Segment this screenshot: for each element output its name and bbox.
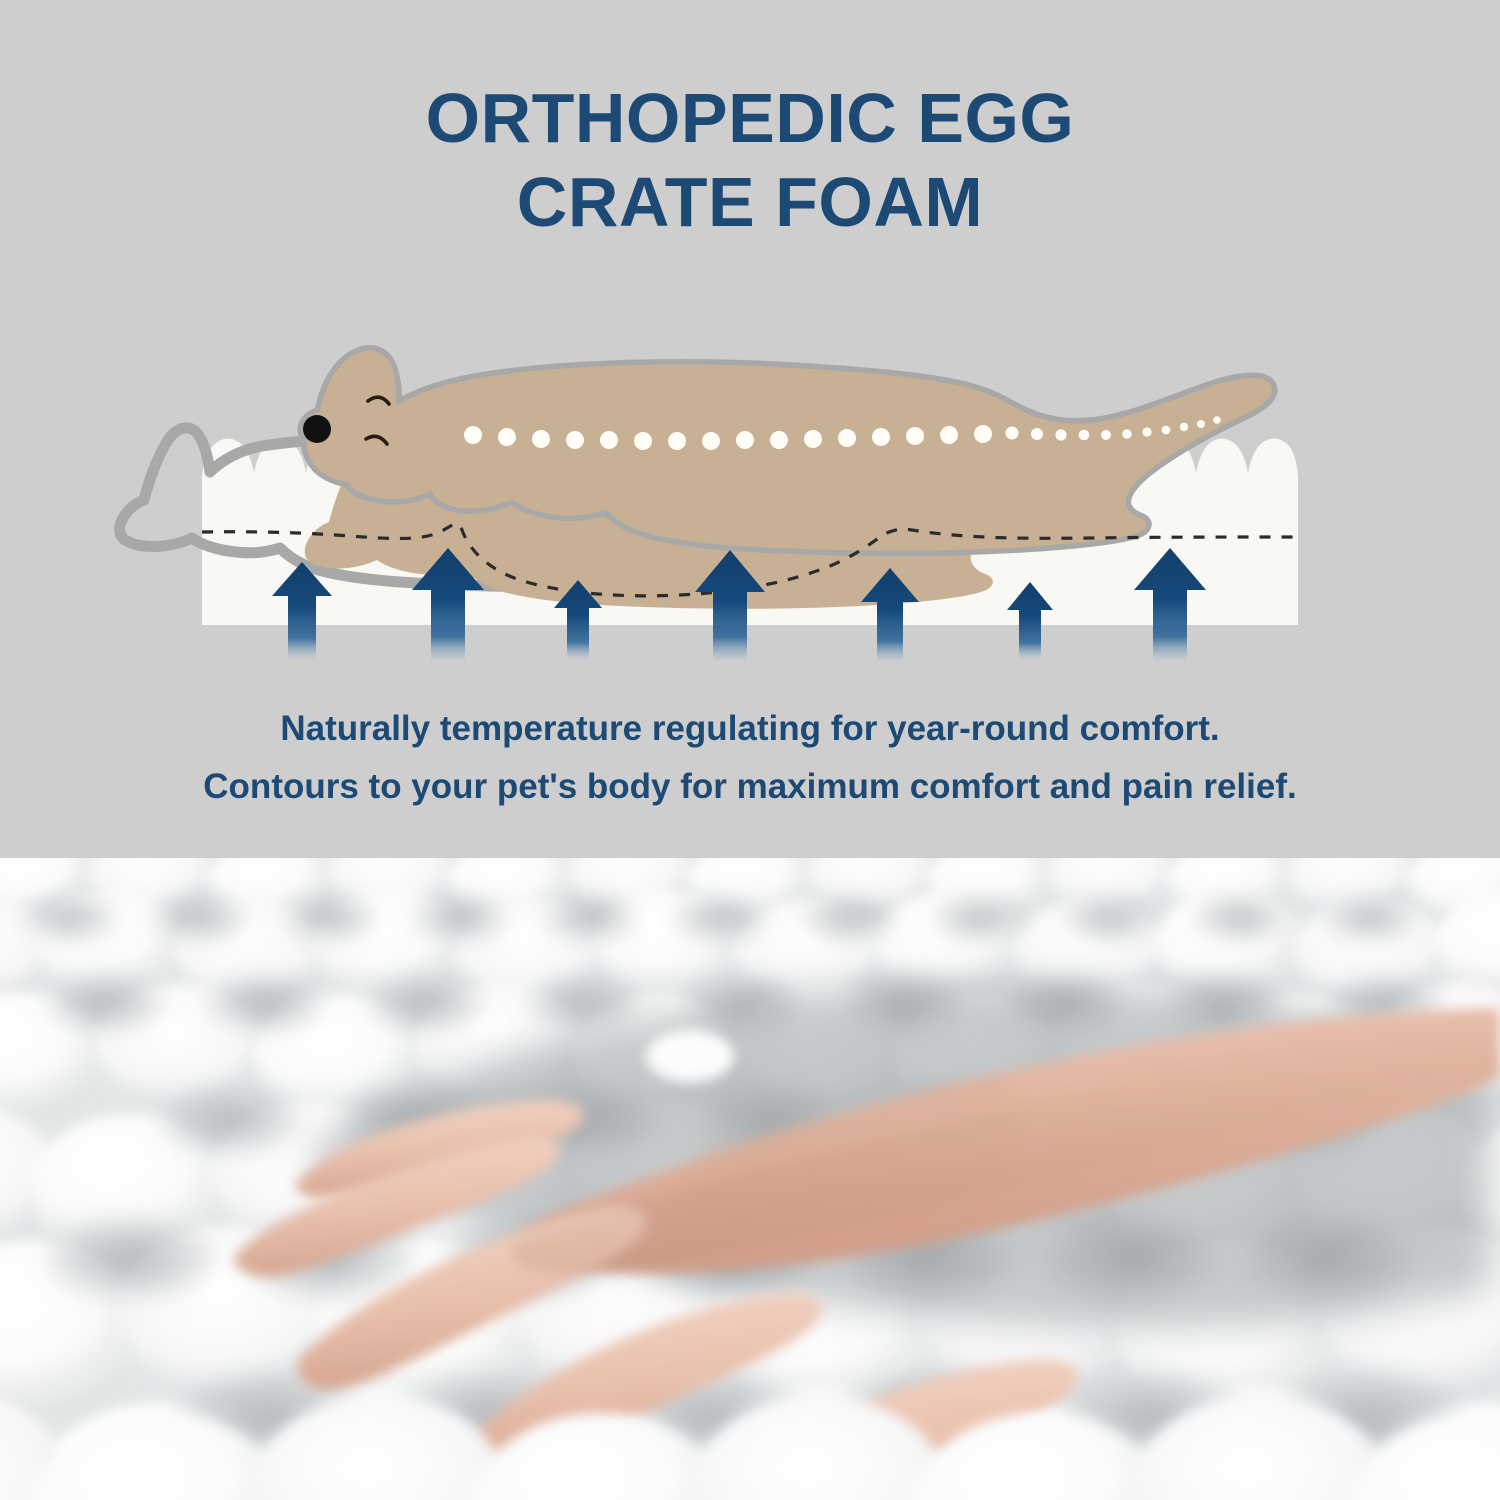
foam-photo — [0, 858, 1500, 1500]
title-line-1: ORTHOPEDIC EGG — [0, 76, 1500, 160]
product-infographic-page: ORTHOPEDIC EGG CRATE FOAM — [0, 0, 1500, 1500]
benefit-caption: Naturally temperature regulating for yea… — [0, 700, 1500, 816]
caption-line-2: Contours to your pet's body for maximum … — [0, 758, 1500, 816]
foam-nub-between-fingers — [646, 1030, 734, 1082]
dog-nose-icon — [303, 415, 331, 443]
title-line-2: CRATE FOAM — [0, 160, 1500, 244]
info-panel: ORTHOPEDIC EGG CRATE FOAM — [0, 0, 1500, 858]
caption-line-1: Naturally temperature regulating for yea… — [0, 700, 1500, 758]
pet-on-foam-diagram — [0, 300, 1500, 690]
page-title: ORTHOPEDIC EGG CRATE FOAM — [0, 76, 1500, 244]
